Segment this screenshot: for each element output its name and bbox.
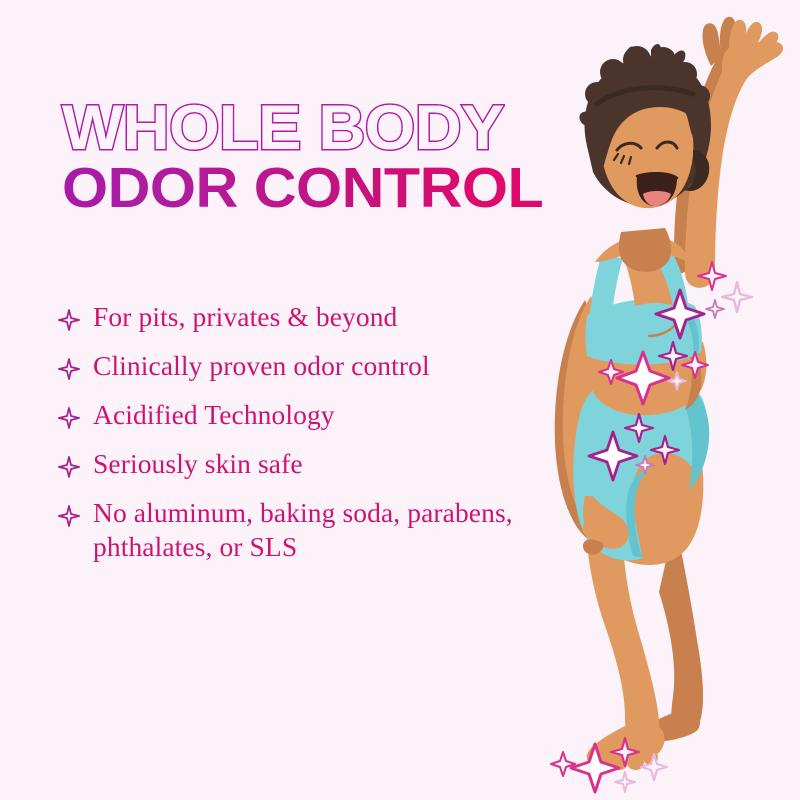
headline-line-2: ODOR CONTROL [62,162,603,214]
list-item-label: Acidified Technology [93,398,335,432]
four-point-sparkle-icon [58,456,80,478]
list-item: For pits, privates & beyond [58,300,558,334]
list-item-label: Seriously skin safe [93,447,303,481]
four-point-sparkle-icon [58,358,80,380]
poster-canvas: WHOLE BODY ODOR CONTROL For pits, privat… [0,0,800,800]
headline-block: WHOLE BODY ODOR CONTROL [62,100,582,214]
smiling-woman-raising-arm-illustration [525,0,800,800]
head [579,44,711,208]
four-point-sparkle-icon [58,505,80,527]
list-item-label: For pits, privates & beyond [93,300,397,334]
benefits-list: For pits, privates & beyond Clinically p… [58,300,558,565]
list-item-label: No aluminum, baking soda, parabens, phth… [93,496,558,564]
list-item: Seriously skin safe [58,447,558,481]
list-item-label: Clinically proven odor control [93,349,430,383]
list-item: Clinically proven odor control [58,349,558,383]
headline-line-1: WHOLE BODY [62,100,598,158]
woman-figure-svg [525,0,800,800]
four-point-sparkle-icon [58,407,80,429]
four-point-sparkle-icon [58,309,80,331]
list-item: No aluminum, baking soda, parabens, phth… [58,496,558,564]
list-item: Acidified Technology [58,398,558,432]
